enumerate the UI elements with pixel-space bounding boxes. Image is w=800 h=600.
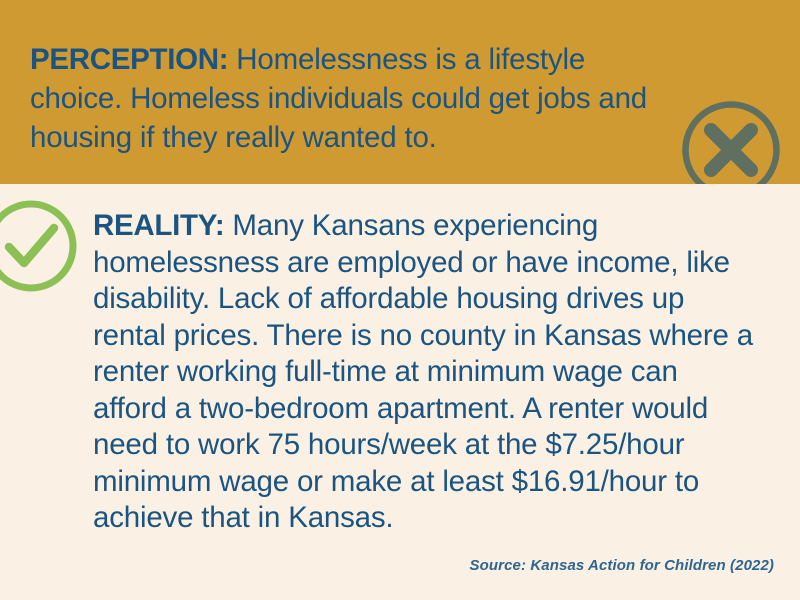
perception-label: PERCEPTION: [30, 43, 228, 76]
reality-body: Many Kansans experiencing homelessness a… [93, 209, 753, 534]
reality-text-block: REALITY: Many Kansans experiencing homel… [93, 208, 753, 537]
check-circle-icon [0, 199, 78, 293]
perception-text-block: PERCEPTION: Homelessness is a lifestyle … [30, 40, 678, 157]
x-circle-icon [680, 99, 782, 184]
perception-band: PERCEPTION: Homelessness is a lifestyle … [0, 0, 800, 184]
source-citation: Source: Kansas Action for Children (2022… [470, 557, 774, 574]
reality-band: REALITY: Many Kansans experiencing homel… [0, 184, 800, 600]
reality-label: REALITY: [93, 209, 224, 242]
myth-vs-fact-card: PERCEPTION: Homelessness is a lifestyle … [0, 0, 800, 600]
